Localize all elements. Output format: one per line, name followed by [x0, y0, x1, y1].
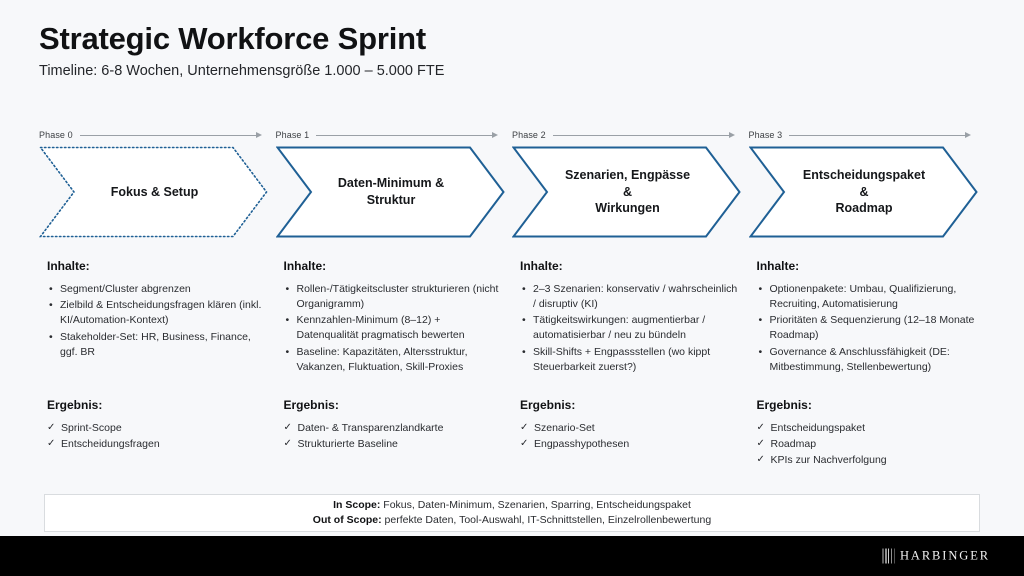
- phase-column-3: Phase 3Entscheidungspaket & RoadmapInhal…: [749, 128, 986, 238]
- inhalte-list-1: •Rollen-/Tätigkeitscluster strukturieren…: [284, 282, 502, 374]
- ergebnis-heading-1: Ergebnis:: [284, 398, 502, 412]
- ergebnis-list-2: ✓Szenario-Set✓Engpasshypothesen: [520, 421, 738, 452]
- inhalte-heading-2: Inhalte:: [520, 259, 738, 273]
- list-item-label: Skill-Shifts + Engpassstellen (wo kippt …: [533, 346, 710, 373]
- bullet-icon: •: [286, 345, 290, 360]
- timeline-line-icon: [316, 135, 493, 136]
- phase-timeline-2: Phase 2: [512, 128, 749, 142]
- bullet-icon: •: [522, 313, 526, 328]
- ergebnis-block-3: Ergebnis:✓Entscheidungspaket✓Roadmap✓KPI…: [757, 398, 975, 469]
- out-of-scope-line: Out of Scope: perfekte Daten, Tool-Auswa…: [313, 513, 711, 528]
- list-item-label: Entscheidungspaket: [771, 422, 866, 434]
- check-icon: ✓: [520, 421, 528, 435]
- timeline-line-icon: [553, 135, 730, 136]
- list-item: ✓Entscheidungspaket: [757, 421, 975, 436]
- check-icon: ✓: [757, 437, 765, 451]
- in-scope-value: Fokus, Daten-Minimum, Szenarien, Sparrin…: [383, 499, 691, 511]
- phase-columns: Phase 0Fokus & SetupInhalte:•Segment/Clu…: [39, 128, 985, 238]
- phase-chevron-title-0: Fokus & Setup: [69, 146, 240, 238]
- check-icon: ✓: [757, 421, 765, 435]
- ergebnis-block-2: Ergebnis:✓Szenario-Set✓Engpasshypothesen: [520, 398, 738, 453]
- list-item-label: Daten- & Transparenzlandkarte: [298, 422, 444, 434]
- ergebnis-block-1: Ergebnis:✓Daten- & Transparenzlandkarte✓…: [284, 398, 502, 453]
- ergebnis-list-1: ✓Daten- & Transparenzlandkarte✓Strukturi…: [284, 421, 502, 452]
- phase-timeline-1: Phase 1: [276, 128, 513, 142]
- in-scope-label: In Scope:: [333, 499, 380, 511]
- scope-box: In Scope: Fokus, Daten-Minimum, Szenarie…: [44, 494, 980, 532]
- list-item: •Kennzahlen-Minimum (8–12) + Datenqualit…: [284, 313, 502, 343]
- bullet-icon: •: [522, 345, 526, 360]
- list-item: •Optionenpakete: Umbau, Qualifizierung, …: [757, 282, 975, 312]
- list-item: ✓KPIs zur Nachverfolgung: [757, 453, 975, 468]
- timeline-line-icon: [789, 135, 966, 136]
- list-item: ✓Roadmap: [757, 437, 975, 452]
- out-of-scope-label: Out of Scope:: [313, 514, 382, 526]
- ergebnis-list-0: ✓Sprint-Scope✓Entscheidungsfragen: [47, 421, 265, 452]
- phase-chevron-title-3: Entscheidungspaket & Roadmap: [779, 146, 950, 238]
- list-item: ✓Engpasshypothesen: [520, 437, 738, 452]
- bullet-icon: •: [522, 282, 526, 297]
- phase-column-1: Phase 1Daten-Minimum & StrukturInhalte:•…: [276, 128, 513, 238]
- check-icon: ✓: [284, 421, 292, 435]
- timeline-line-icon: [80, 135, 257, 136]
- list-item-label: Sprint-Scope: [61, 422, 122, 434]
- ergebnis-list-3: ✓Entscheidungspaket✓Roadmap✓KPIs zur Nac…: [757, 421, 975, 468]
- phase-column-2: Phase 2Szenarien, Engpässe & WirkungenIn…: [512, 128, 749, 238]
- phase-label-1: Phase 1: [276, 130, 310, 140]
- list-item-label: Strukturierte Baseline: [298, 438, 398, 450]
- list-item: •Zielbild & Entscheidungsfragen klären (…: [47, 298, 265, 328]
- phase-label-3: Phase 3: [749, 130, 783, 140]
- inhalte-block-0: Inhalte:•Segment/Cluster abgrenzen•Zielb…: [47, 259, 265, 361]
- list-item: ✓Strukturierte Baseline: [284, 437, 502, 452]
- list-item-label: KPIs zur Nachverfolgung: [771, 454, 887, 466]
- bullet-icon: •: [759, 313, 763, 328]
- list-item: ✓Szenario-Set: [520, 421, 738, 436]
- list-item-label: Stakeholder-Set: HR, Business, Finance, …: [60, 331, 251, 358]
- list-item-label: Entscheidungsfragen: [61, 438, 160, 450]
- list-item: •2–3 Szenarien: konservativ / wahrschein…: [520, 282, 738, 312]
- phase-label-0: Phase 0: [39, 130, 73, 140]
- list-item-label: Kennzahlen-Minimum (8–12) + Datenqualitä…: [297, 314, 465, 341]
- bullet-icon: •: [759, 282, 763, 297]
- list-item: •Stakeholder-Set: HR, Business, Finance,…: [47, 330, 265, 360]
- phase-column-0: Phase 0Fokus & SetupInhalte:•Segment/Clu…: [39, 128, 276, 238]
- list-item-label: Roadmap: [771, 438, 817, 450]
- inhalte-block-2: Inhalte:•2–3 Szenarien: konservativ / wa…: [520, 259, 738, 376]
- list-item: •Skill-Shifts + Engpassstellen (wo kippt…: [520, 345, 738, 375]
- inhalte-heading-1: Inhalte:: [284, 259, 502, 273]
- ergebnis-block-0: Ergebnis:✓Sprint-Scope✓Entscheidungsfrag…: [47, 398, 265, 453]
- phase-timeline-0: Phase 0: [39, 128, 276, 142]
- bullet-icon: •: [49, 330, 53, 345]
- inhalte-list-3: •Optionenpakete: Umbau, Qualifizierung, …: [757, 282, 975, 374]
- list-item: •Tätigkeitswirkungen: augmentierbar / au…: [520, 313, 738, 343]
- bullet-icon: •: [286, 313, 290, 328]
- inhalte-list-2: •2–3 Szenarien: konservativ / wahrschein…: [520, 282, 738, 374]
- list-item: ✓Daten- & Transparenzlandkarte: [284, 421, 502, 436]
- list-item-label: Zielbild & Entscheidungsfragen klären (i…: [60, 299, 261, 326]
- bullet-icon: •: [49, 282, 53, 297]
- inhalte-block-1: Inhalte:•Rollen-/Tätigkeitscluster struk…: [284, 259, 502, 376]
- page-title: Strategic Workforce Sprint: [39, 22, 939, 57]
- list-item-label: Tätigkeitswirkungen: augmentierbar / aut…: [533, 314, 705, 341]
- phase-chevron-1[interactable]: Daten-Minimum & Struktur: [276, 146, 505, 238]
- slide-root: Strategic Workforce Sprint Timeline: 6-8…: [0, 0, 1024, 576]
- list-item-label: Segment/Cluster abgrenzen: [60, 283, 191, 295]
- phase-timeline-3: Phase 3: [749, 128, 986, 142]
- out-of-scope-value: perfekte Daten, Tool-Auswahl, IT-Schnitt…: [385, 514, 712, 526]
- list-item-label: Governance & Anschlussfähigkeit (DE: Mit…: [770, 346, 950, 373]
- vertical-bars-mark-icon: [882, 549, 894, 564]
- in-scope-line: In Scope: Fokus, Daten-Minimum, Szenarie…: [333, 498, 691, 513]
- list-item-label: 2–3 Szenarien: konservativ / wahrscheinl…: [533, 283, 737, 310]
- check-icon: ✓: [757, 453, 765, 467]
- inhalte-heading-3: Inhalte:: [757, 259, 975, 273]
- check-icon: ✓: [47, 421, 55, 435]
- ergebnis-heading-2: Ergebnis:: [520, 398, 738, 412]
- bullet-icon: •: [759, 345, 763, 360]
- phase-chevron-title-1: Daten-Minimum & Struktur: [306, 146, 477, 238]
- slide-header: Strategic Workforce Sprint Timeline: 6-8…: [39, 22, 939, 80]
- check-icon: ✓: [47, 437, 55, 451]
- list-item: •Governance & Anschlussfähigkeit (DE: Mi…: [757, 345, 975, 375]
- check-icon: ✓: [520, 437, 528, 451]
- bullet-icon: •: [49, 298, 53, 313]
- list-item-label: Rollen-/Tätigkeitscluster strukturieren …: [297, 283, 499, 310]
- list-item: ✓Entscheidungsfragen: [47, 437, 265, 452]
- inhalte-heading-0: Inhalte:: [47, 259, 265, 273]
- list-item: •Baseline: Kapazitäten, Altersstruktur, …: [284, 345, 502, 375]
- list-item-label: Engpasshypothesen: [534, 438, 629, 450]
- ergebnis-heading-0: Ergebnis:: [47, 398, 265, 412]
- phase-chevron-2[interactable]: Szenarien, Engpässe & Wirkungen: [512, 146, 741, 238]
- phase-label-2: Phase 2: [512, 130, 546, 140]
- bullet-icon: •: [286, 282, 290, 297]
- list-item-label: Prioritäten & Sequenzierung (12–18 Monat…: [770, 314, 975, 341]
- list-item-label: Optionenpakete: Umbau, Qualifizierung, R…: [770, 283, 957, 310]
- check-icon: ✓: [284, 437, 292, 451]
- phase-chevron-0[interactable]: Fokus & Setup: [39, 146, 268, 238]
- list-item: •Segment/Cluster abgrenzen: [47, 282, 265, 297]
- brand-logo: HARBINGER: [882, 549, 990, 564]
- list-item: ✓Sprint-Scope: [47, 421, 265, 436]
- ergebnis-heading-3: Ergebnis:: [757, 398, 975, 412]
- page-subtitle: Timeline: 6-8 Wochen, Unternehmensgröße …: [39, 63, 939, 80]
- list-item-label: Szenario-Set: [534, 422, 595, 434]
- list-item: •Rollen-/Tätigkeitscluster strukturieren…: [284, 282, 502, 312]
- list-item-label: Baseline: Kapazitäten, Altersstruktur, V…: [297, 346, 468, 373]
- inhalte-block-3: Inhalte:•Optionenpakete: Umbau, Qualifiz…: [757, 259, 975, 376]
- footer-bar: HARBINGER: [0, 536, 1024, 576]
- brand-name: HARBINGER: [900, 549, 990, 564]
- phase-chevron-3[interactable]: Entscheidungspaket & Roadmap: [749, 146, 978, 238]
- list-item: •Prioritäten & Sequenzierung (12–18 Mona…: [757, 313, 975, 343]
- inhalte-list-0: •Segment/Cluster abgrenzen•Zielbild & En…: [47, 282, 265, 360]
- phase-chevron-title-2: Szenarien, Engpässe & Wirkungen: [542, 146, 713, 238]
